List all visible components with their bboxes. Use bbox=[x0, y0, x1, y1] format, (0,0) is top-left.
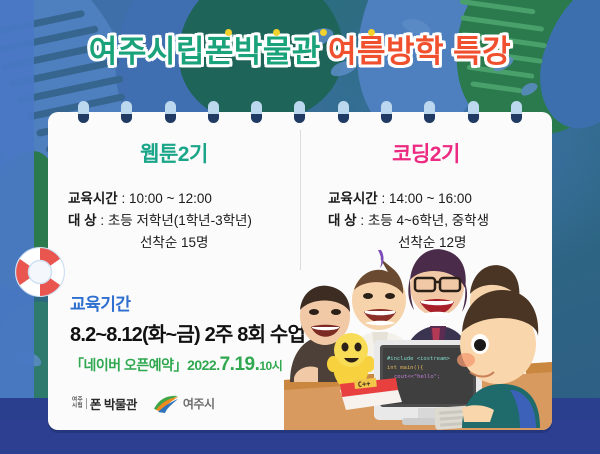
title-dot bbox=[368, 29, 375, 36]
course-row-target: 대 상 : 초등 저학년(1학년-3학년) bbox=[62, 210, 286, 232]
illustration-svg: #include <iostream> int main(){ cout<<"h… bbox=[284, 232, 552, 430]
row-sep: : bbox=[100, 213, 104, 228]
course-column-webtoon: 웹툰2기 교육시간 : 10:00 ~ 12:00 대 상 : 초등 저학년(1… bbox=[48, 124, 300, 284]
row-sep: : bbox=[360, 213, 364, 228]
binding-ring bbox=[294, 101, 305, 123]
row-value: 초등 4~6학년, 중학생 bbox=[368, 213, 489, 228]
reservation-channel: 「네이버 오픈예약」 bbox=[70, 357, 187, 373]
poster-title: 여주시립폰박물관여름방학 특강 bbox=[0, 36, 600, 67]
row-value: 초등 저학년(1학년-3학년) bbox=[108, 213, 252, 228]
spiral-binding bbox=[48, 101, 552, 123]
reservation-year: 2022. bbox=[187, 357, 220, 373]
binding-ring bbox=[468, 101, 479, 123]
title-dot bbox=[273, 29, 280, 36]
museum-logo: 여주 시립 폰 박물관 bbox=[72, 394, 137, 413]
binding-ring bbox=[338, 101, 349, 123]
row-label: 대 상 bbox=[328, 210, 357, 232]
notebook-card: 웹툰2기 교육시간 : 10:00 ~ 12:00 대 상 : 초등 저학년(1… bbox=[48, 112, 552, 430]
course-capacity-webtoon: 선착순 15명 bbox=[62, 232, 286, 254]
swoosh-icon bbox=[153, 395, 179, 413]
row-sep: : bbox=[381, 191, 385, 206]
row-label: 대 상 bbox=[68, 210, 97, 232]
title-dots bbox=[0, 23, 600, 41]
city-logo-name: 여주시 bbox=[183, 395, 215, 412]
binding-ring bbox=[424, 101, 435, 123]
life-preserver-icon bbox=[14, 246, 66, 298]
boy-student bbox=[457, 290, 540, 428]
svg-text:C++: C++ bbox=[357, 380, 370, 389]
row-value: 14:00 ~ 16:00 bbox=[389, 191, 472, 206]
binding-ring bbox=[381, 101, 392, 123]
binding-ring bbox=[251, 101, 262, 123]
binding-ring bbox=[78, 101, 89, 123]
logo-row: 여주 시립 폰 박물관 여주시 bbox=[72, 394, 215, 413]
binding-ring bbox=[511, 101, 522, 123]
course-row-time: 교육시간 : 10:00 ~ 12:00 bbox=[62, 188, 286, 210]
museum-prefix-line2: 시립 bbox=[72, 404, 83, 410]
coding-class-illustration: #include <iostream> int main(){ cout<<"h… bbox=[284, 232, 552, 430]
period-block: 교육기간 8.2~8.12(화~금) 2주 8회 수업 「네이버 오픈예약」20… bbox=[70, 290, 305, 376]
title-dot bbox=[320, 29, 327, 36]
museum-logo-prefix: 여주 시립 bbox=[72, 398, 87, 410]
row-label: 교육시간 bbox=[68, 188, 118, 210]
course-row-time: 교육시간 : 14:00 ~ 16:00 bbox=[314, 188, 538, 210]
reservation-date: 7.19. bbox=[220, 354, 260, 375]
course-heading-webtoon: 웹툰2기 bbox=[62, 138, 286, 168]
svg-text:#include <iostream>: #include <iostream> bbox=[387, 356, 451, 362]
binding-ring bbox=[208, 101, 219, 123]
row-value: 10:00 ~ 12:00 bbox=[129, 191, 212, 206]
period-title: 교육기간 bbox=[70, 290, 305, 315]
binding-ring bbox=[121, 101, 132, 123]
poster-root: 여주시립폰박물관여름방학 특강 웹툰2기 교육시간 : bbox=[0, 0, 600, 454]
left-accent-band bbox=[0, 0, 34, 454]
course-heading-coding: 코딩2기 bbox=[314, 138, 538, 168]
course-row-target: 대 상 : 초등 4~6학년, 중학생 bbox=[314, 210, 538, 232]
svg-text:cout<<"hello";: cout<<"hello"; bbox=[394, 374, 440, 380]
reservation-line: 「네이버 오픈예약」2022.7.19.10시 bbox=[70, 354, 305, 376]
period-main: 8.2~8.12(화~금) 2주 8회 수업 bbox=[70, 318, 305, 347]
reservation-time: 10시 bbox=[259, 359, 282, 373]
museum-logo-name: 폰 박물관 bbox=[90, 394, 137, 413]
binding-ring bbox=[165, 101, 176, 123]
row-sep: : bbox=[121, 191, 125, 206]
row-label: 교육시간 bbox=[328, 188, 378, 210]
city-logo: 여주시 bbox=[153, 395, 215, 413]
title-dot bbox=[225, 29, 232, 36]
svg-text:int main(){: int main(){ bbox=[387, 365, 423, 371]
